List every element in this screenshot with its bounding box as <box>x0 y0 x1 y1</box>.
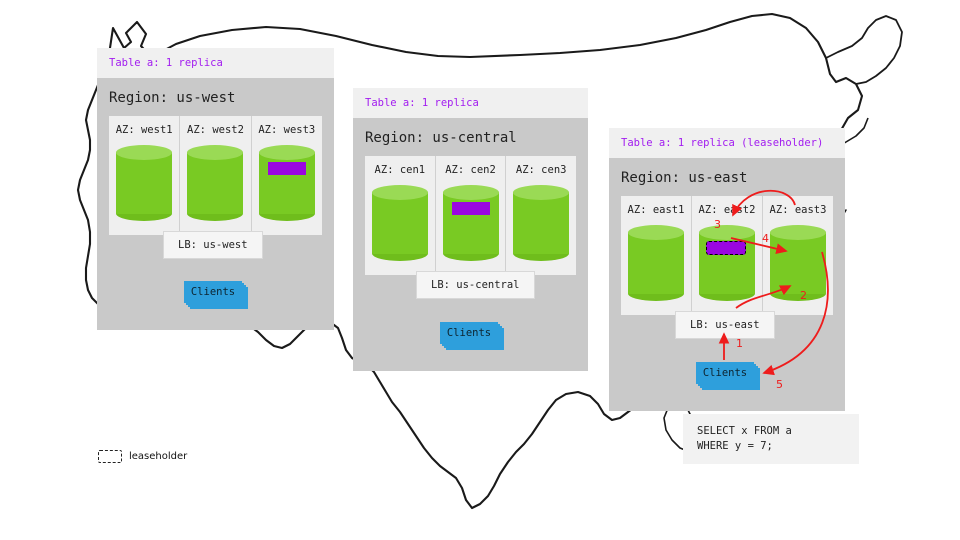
az-label: AZ: east2 <box>699 204 756 216</box>
az-cell-east2[interactable]: AZ: east2 <box>692 196 763 315</box>
az-cell-east3[interactable]: AZ: east3 <box>763 196 833 315</box>
replica-marker <box>452 202 490 215</box>
region-replica-label: Table a: 1 replica (leaseholder) <box>609 128 845 158</box>
node-cylinder-icon[interactable] <box>187 145 243 221</box>
az-cell-cen3[interactable]: AZ: cen3 <box>506 156 576 275</box>
sql-query-box: SELECT x FROM a WHERE y = 7; <box>683 414 859 464</box>
leaseholder-swatch-icon <box>98 450 122 463</box>
az-label: AZ: east3 <box>770 204 827 216</box>
leaseholder-marker <box>706 241 746 255</box>
az-label: AZ: east1 <box>628 204 685 216</box>
load-balancer-us-east[interactable]: LB: us-east <box>675 311 775 339</box>
region-replica-label: Table a: 1 replica <box>353 88 588 118</box>
az-row: AZ: cen1 AZ: cen2 AZ: cen3 <box>365 156 576 275</box>
clients-label: Clients <box>440 322 498 344</box>
az-label: AZ: west1 <box>116 124 173 136</box>
az-label: AZ: cen3 <box>516 164 567 176</box>
az-label: AZ: west2 <box>187 124 244 136</box>
legend: leaseholder <box>98 450 187 463</box>
az-row: AZ: west1 AZ: west2 AZ: west3 <box>109 116 322 235</box>
az-label: AZ: west3 <box>258 124 315 136</box>
node-cylinder-icon[interactable] <box>770 225 826 301</box>
node-cylinder-icon[interactable] <box>372 185 428 261</box>
node-cylinder-icon[interactable] <box>699 225 755 301</box>
az-cell-east1[interactable]: AZ: east1 <box>621 196 692 315</box>
region-title: Region: us-east <box>609 158 845 196</box>
az-label: AZ: cen1 <box>375 164 426 176</box>
az-cell-cen1[interactable]: AZ: cen1 <box>365 156 436 275</box>
sql-line-2: WHERE y = 7; <box>697 440 773 452</box>
az-cell-west3[interactable]: AZ: west3 <box>252 116 322 235</box>
node-cylinder-icon[interactable] <box>513 185 569 261</box>
clients-label: Clients <box>184 281 242 303</box>
sql-line-1: SELECT x FROM a <box>697 425 792 437</box>
az-cell-west2[interactable]: AZ: west2 <box>180 116 251 235</box>
node-cylinder-icon[interactable] <box>628 225 684 301</box>
diagram-canvas: Table a: 1 replica Region: us-west AZ: w… <box>0 0 960 540</box>
region-replica-label: Table a: 1 replica <box>97 48 334 78</box>
clients-us-east[interactable]: Clients <box>696 362 760 388</box>
az-row: AZ: east1 AZ: east2 AZ: east3 <box>621 196 833 315</box>
load-balancer-us-central[interactable]: LB: us-central <box>416 271 535 299</box>
clients-us-west[interactable]: Clients <box>184 281 248 307</box>
node-cylinder-icon[interactable] <box>443 185 499 261</box>
node-cylinder-icon[interactable] <box>116 145 172 221</box>
az-label: AZ: cen2 <box>445 164 496 176</box>
az-cell-cen2[interactable]: AZ: cen2 <box>436 156 507 275</box>
legend-label: leaseholder <box>129 451 187 462</box>
clients-label: Clients <box>696 362 754 384</box>
clients-us-central[interactable]: Clients <box>440 322 504 348</box>
load-balancer-us-west[interactable]: LB: us-west <box>163 231 263 259</box>
replica-marker <box>268 162 306 175</box>
az-cell-west1[interactable]: AZ: west1 <box>109 116 180 235</box>
node-cylinder-icon[interactable] <box>259 145 315 221</box>
region-title: Region: us-west <box>97 78 334 116</box>
region-title: Region: us-central <box>353 118 588 156</box>
